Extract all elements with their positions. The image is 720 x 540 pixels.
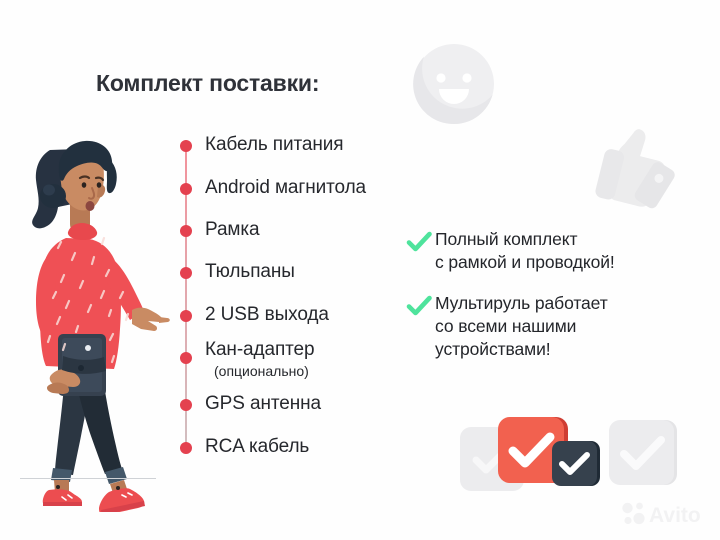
benefit-item: Мультируль работает со всеми нашими устр… (406, 292, 706, 361)
list-item: RCA кабель (205, 436, 309, 458)
benefit-text: Полный комплект с рамкой и проводкой! (435, 228, 615, 274)
list-item-sublabel: (опционально) (214, 363, 309, 379)
list-item: 2 USB выхода (205, 304, 329, 326)
list-item: Тюльпаны (205, 261, 295, 283)
benefit-text: Мультируль работает со всеми нашими устр… (435, 292, 608, 361)
avito-dots-logo (622, 503, 644, 524)
checkbox-light-right (609, 420, 677, 488)
timeline-dot (180, 442, 192, 454)
timeline-dot (180, 352, 192, 364)
benefits-list: Полный комплект с рамкой и проводкой! Му… (406, 228, 706, 379)
benefit-item: Полный комплект с рамкой и проводкой! (406, 228, 706, 274)
timeline-dot (180, 399, 192, 411)
smiley-face-icon (412, 42, 496, 126)
green-check-icon (406, 229, 432, 255)
timeline-dot (180, 310, 192, 322)
checkbox-dark (552, 441, 600, 489)
promo-image-canvas: Комплект поставки: (0, 0, 720, 540)
checkbox-cluster-decoration (460, 415, 700, 505)
timeline-dot (180, 267, 192, 279)
list-item: Кабель питания (205, 134, 343, 156)
package-contents-list: Кабель питания Android магнитола Рамка Т… (0, 0, 400, 540)
list-item: GPS антенна (205, 393, 321, 415)
avito-watermark-text: Avito (649, 504, 701, 527)
thumbs-up-icon (586, 120, 682, 216)
list-item: Кан-адаптер (205, 339, 315, 361)
timeline-dot (180, 140, 192, 152)
list-item: Android магнитола (205, 177, 366, 199)
timeline-dot (180, 225, 192, 237)
timeline-dot (180, 183, 192, 195)
avito-watermark: Avito (620, 499, 712, 529)
green-check-icon (406, 293, 432, 319)
list-item: Рамка (205, 219, 259, 241)
